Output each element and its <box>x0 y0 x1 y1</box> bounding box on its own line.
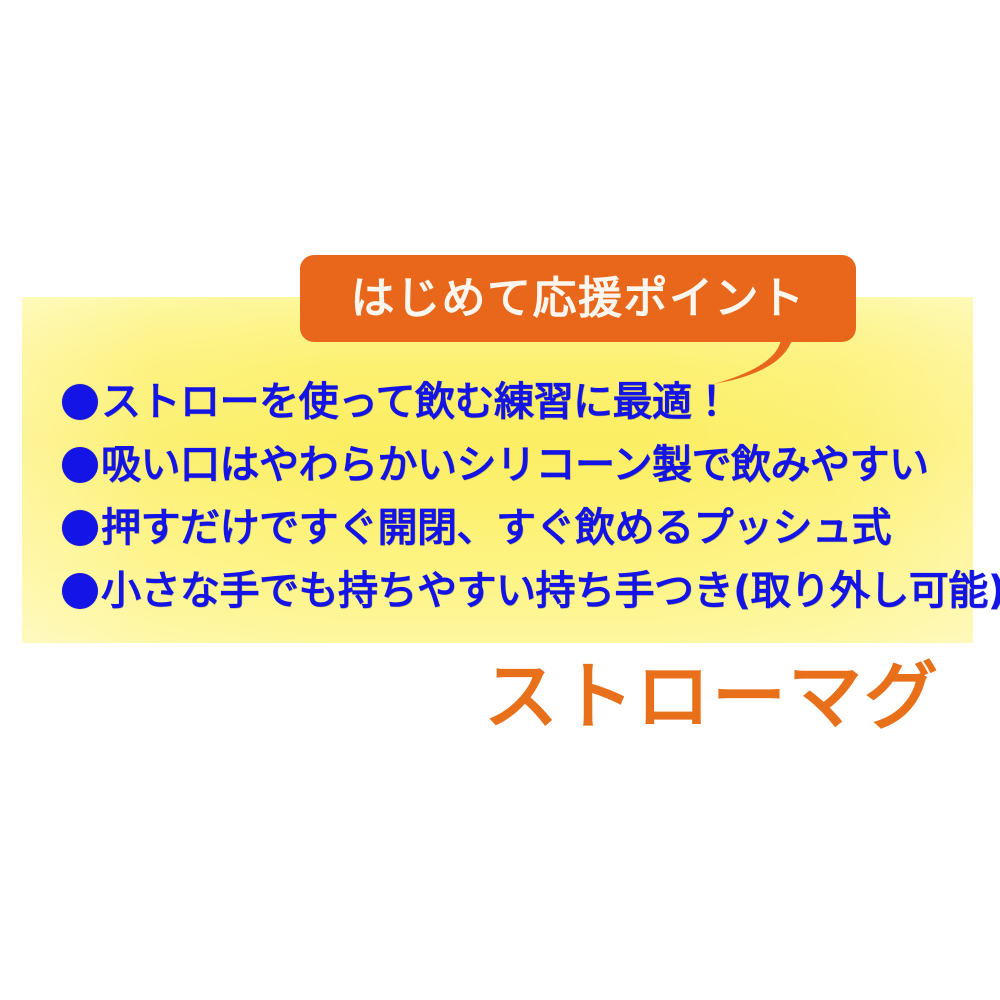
callout-badge: はじめて応援ポイント <box>300 255 856 342</box>
list-item: 吸い口はやわらかいシリコーン製で飲みやすい <box>62 433 962 496</box>
bullet-dot-icon <box>62 447 98 483</box>
list-item: 押すだけですぐ開閉、すぐ飲めるプッシュ式 <box>62 496 962 559</box>
product-title: ストローマグ <box>0 660 940 734</box>
feature-item-label: 小さな手でも持ちやすい持ち手つき(取り外し可能) <box>101 571 1000 611</box>
feature-list: ストローを使って飲む練習に最適！ 吸い口はやわらかいシリコーン製で飲みやすい 押… <box>62 370 962 622</box>
bullet-dot-icon <box>62 573 98 609</box>
product-feature-banner: はじめて応援ポイント ストローを使って飲む練習に最適！ 吸い口はやわらかいシリコ… <box>0 0 1000 1000</box>
list-item: 小さな手でも持ちやすい持ち手つき(取り外し可能) <box>62 559 962 622</box>
feature-item-label: 吸い口はやわらかいシリコーン製で飲みやすい <box>101 445 929 485</box>
bullet-dot-icon <box>62 384 98 420</box>
feature-item-label: ストローを使って飲む練習に最適！ <box>101 382 731 422</box>
callout-label: はじめて応援ポイント <box>351 277 806 321</box>
bullet-dot-icon <box>62 510 98 546</box>
list-item: ストローを使って飲む練習に最適！ <box>62 370 962 433</box>
feature-item-label: 押すだけですぐ開閉、すぐ飲めるプッシュ式 <box>101 508 891 548</box>
